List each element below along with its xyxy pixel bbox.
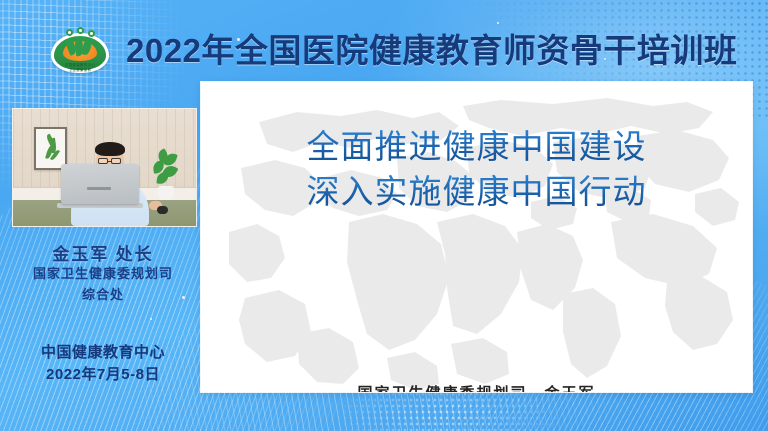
sprout-icon	[77, 27, 84, 34]
presenter-video[interactable]	[12, 108, 197, 227]
presenter-organization: 国家卫生健康委规划司	[0, 263, 206, 282]
potted-plant-icon	[148, 148, 182, 190]
broadcast-frame: 中国健康教育中心 卫生健康宣教 2022年全国医院健康教育师资骨干培训班	[0, 0, 768, 431]
presenter-hair	[95, 142, 125, 156]
logo-caption: 中国健康教育中心 卫生健康宣教	[49, 63, 111, 73]
presenter-name: 金玉军 处长	[0, 240, 206, 265]
slide-title-line-2: 深入实施健康中国行动	[201, 171, 752, 216]
footer-dates: 2022年7月5-8日	[0, 363, 206, 384]
sparkle-dot	[150, 318, 152, 320]
plant-pot-icon	[158, 186, 174, 200]
presentation-slide[interactable]: 全面推进健康中国建设 深入实施健康中国行动 国家卫生健康委规划司 金玉军	[201, 82, 752, 392]
laptop-brand-mark	[87, 187, 111, 190]
laptop-lid	[61, 164, 139, 204]
slide-title-line-1: 全面推进健康中国建设	[201, 126, 752, 171]
sprout-icon	[66, 29, 73, 36]
sprout-icon	[88, 30, 95, 37]
mouse-icon	[157, 206, 168, 214]
footer-organizer: 中国健康教育中心	[0, 341, 206, 362]
laptop-icon	[57, 164, 143, 208]
organization-logo: 中国健康教育中心 卫生健康宣教	[49, 25, 111, 75]
glasses-bridge	[108, 161, 111, 162]
header-bar: 中国健康教育中心 卫生健康宣教 2022年全国医院健康教育师资骨干培训班	[0, 0, 768, 82]
presenter-department: 综合处	[0, 284, 206, 303]
slide-title: 全面推进健康中国建设 深入实施健康中国行动	[201, 126, 752, 216]
slide-byline: 国家卫生健康委规划司 金玉军	[201, 382, 752, 392]
header-title: 2022年全国医院健康教育师资骨干培训班	[126, 24, 716, 72]
